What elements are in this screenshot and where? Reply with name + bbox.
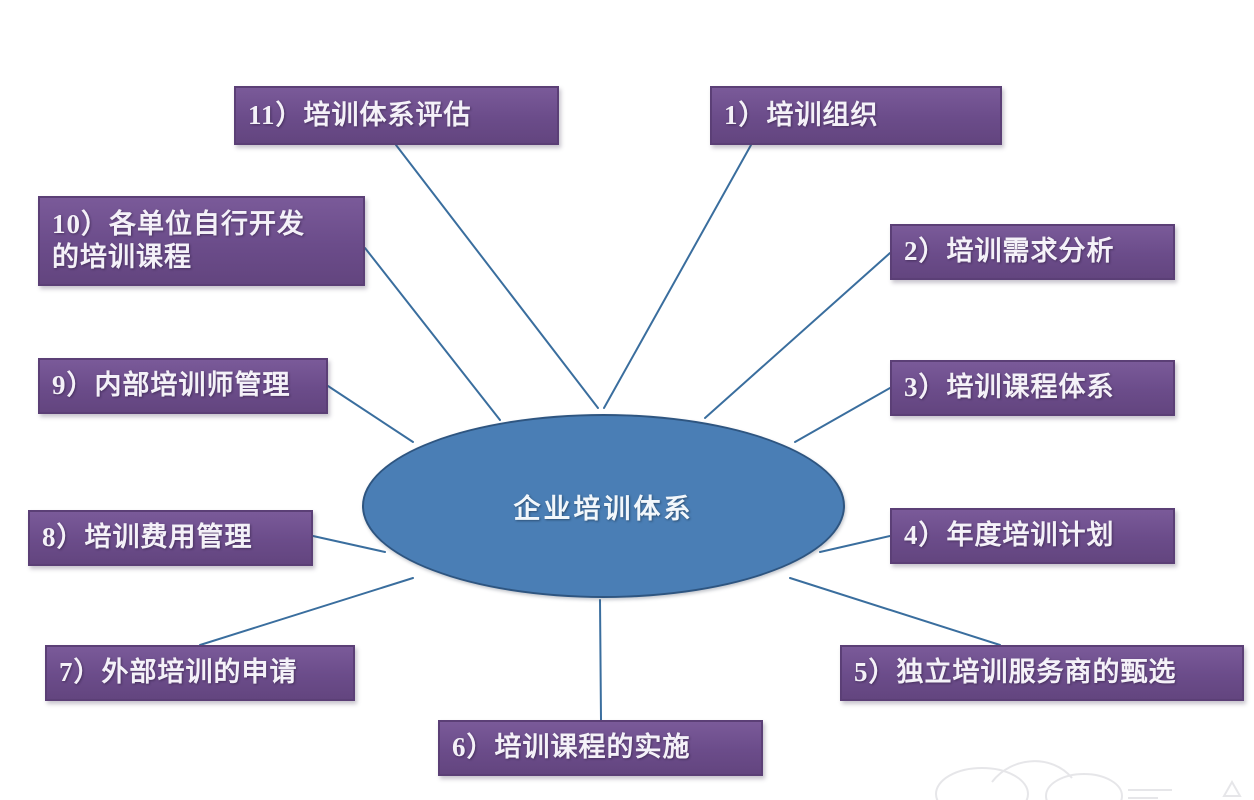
node-box-4[interactable]: 4）年度培训计划 [890, 508, 1175, 564]
node-box-label-8: 8）培训费用管理 [42, 522, 253, 554]
node-box-6[interactable]: 6）培训课程的实施 [438, 720, 763, 776]
connector-line-7 [200, 578, 413, 645]
center-node[interactable]: 企业培训体系 [362, 414, 845, 598]
node-box-label-10: 10）各单位自行开发 的培训课程 [52, 208, 305, 274]
node-box-7[interactable]: 7）外部培训的申请 [45, 645, 355, 701]
node-box-label-7: 7）外部培训的申请 [59, 657, 298, 689]
node-box-8[interactable]: 8）培训费用管理 [28, 510, 313, 566]
connector-line-1 [604, 145, 751, 408]
connector-line-8 [313, 536, 385, 552]
node-box-label-11: 11）培训体系评估 [248, 100, 472, 132]
node-box-10[interactable]: 10）各单位自行开发 的培训课程 [38, 196, 365, 286]
node-box-5[interactable]: 5）独立培训服务商的甄选 [840, 645, 1244, 701]
diagram-canvas: 企业培训体系 1）培训组织2）培训需求分析3）培训课程体系4）年度培训计划5）独… [0, 0, 1254, 800]
connector-line-6 [600, 600, 601, 720]
node-box-label-9: 9）内部培训师管理 [52, 370, 291, 402]
node-box-label-3: 3）培训课程体系 [904, 372, 1115, 404]
node-box-label-5: 5）独立培训服务商的甄选 [854, 657, 1177, 689]
connector-line-2 [705, 253, 890, 418]
connector-line-9 [328, 386, 413, 442]
center-node-label: 企业培训体系 [514, 487, 694, 526]
node-box-1[interactable]: 1）培训组织 [710, 86, 1002, 145]
node-box-9[interactable]: 9）内部培训师管理 [38, 358, 328, 414]
connector-line-10 [365, 248, 500, 420]
connector-line-3 [795, 388, 890, 442]
node-box-label-4: 4）年度培训计划 [904, 520, 1115, 552]
node-box-11[interactable]: 11）培训体系评估 [234, 86, 559, 145]
connector-line-4 [820, 536, 890, 552]
node-box-3[interactable]: 3）培训课程体系 [890, 360, 1175, 416]
connector-line-11 [396, 145, 598, 408]
node-box-2[interactable]: 2）培训需求分析 [890, 224, 1175, 280]
node-box-label-2: 2）培训需求分析 [904, 236, 1115, 268]
node-box-label-1: 1）培训组织 [724, 100, 879, 132]
connector-line-5 [790, 578, 1000, 645]
node-box-label-6: 6）培训课程的实施 [452, 732, 691, 764]
